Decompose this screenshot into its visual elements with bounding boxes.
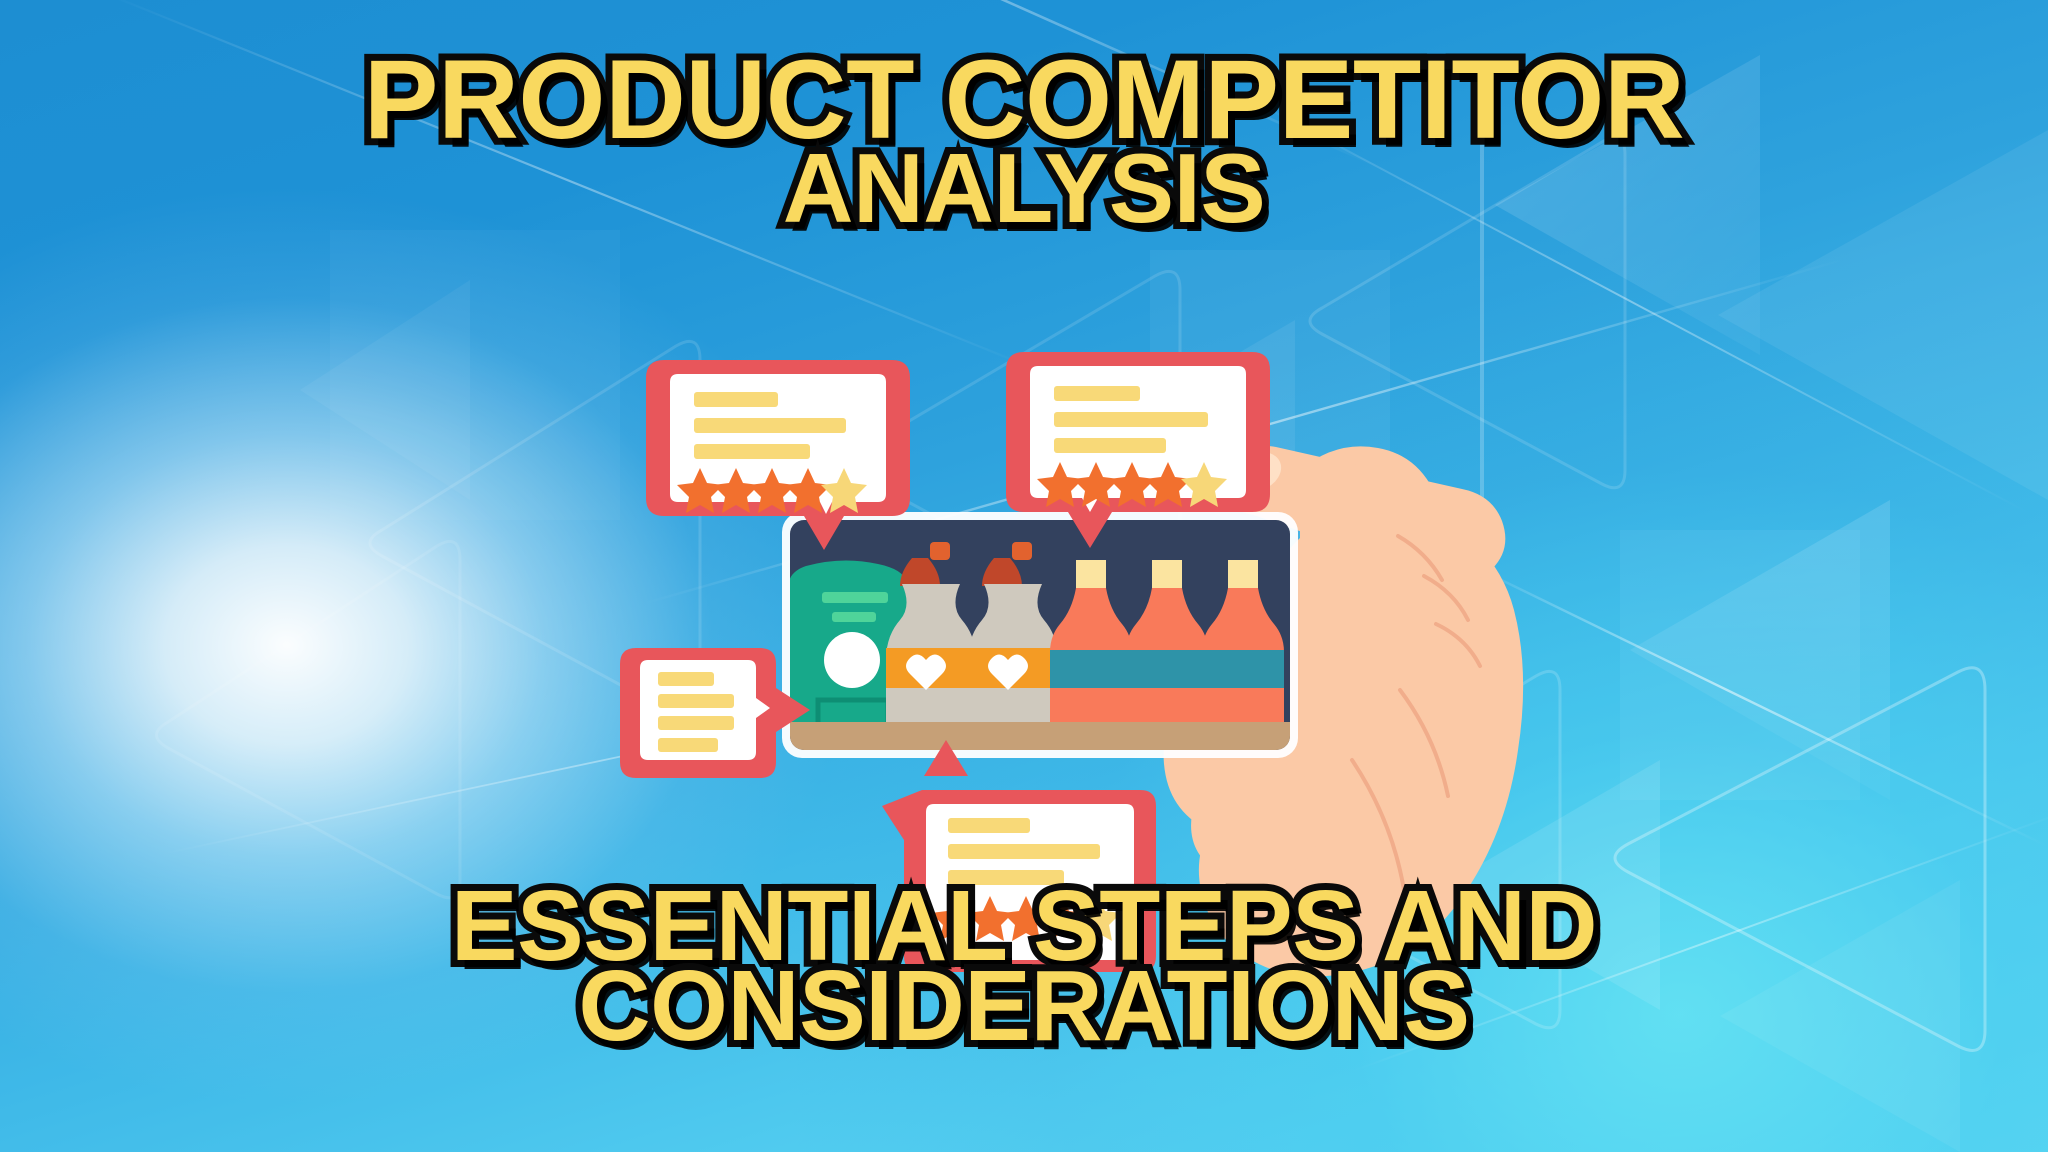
review-card-left — [620, 648, 810, 778]
product-shelf-panel — [782, 512, 1298, 758]
review-card-bottom — [882, 740, 1156, 972]
product-shelf-illustration — [0, 0, 2048, 1152]
shelf-board — [790, 722, 1290, 750]
banner-image: PRODUCT COMPETITOR ANALYSIS ESSENTIAL ST… — [0, 0, 2048, 1152]
